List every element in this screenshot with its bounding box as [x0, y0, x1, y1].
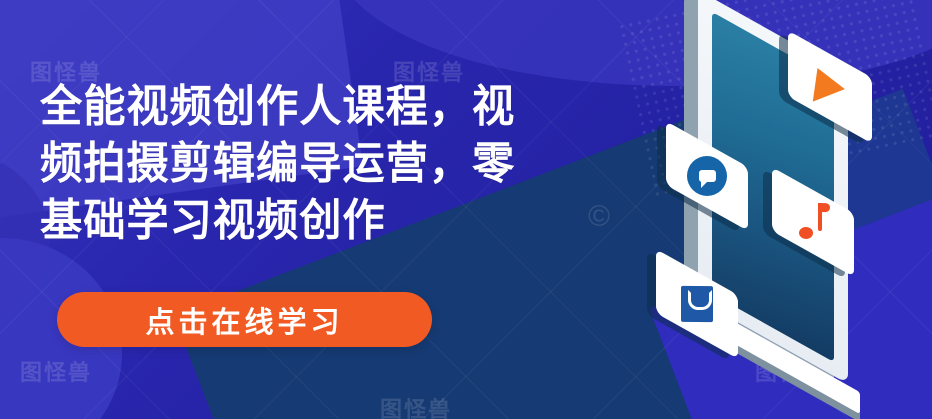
headline-line-3: 基础学习视频创作	[40, 192, 645, 249]
course-promo-banner: 图怪兽 图怪兽 图怪兽 图怪兽 图怪兽 图怪兽 © 全能视频创作人课程，视 频拍…	[0, 0, 932, 419]
banner-headline: 全能视频创作人课程，视 频拍摄剪辑编导运营，零 基础学习视频创作	[40, 78, 645, 249]
phone-illustration	[660, 22, 920, 407]
chat-bubble-icon	[687, 156, 727, 196]
watermark: 图怪兽	[380, 392, 452, 419]
cta-online-learning-button[interactable]: 点击在线学习	[57, 292, 432, 347]
music-note-head	[799, 227, 813, 239]
chat-bubble-shape	[699, 170, 716, 182]
music-note-stem	[818, 203, 822, 231]
music-note-icon	[796, 203, 830, 241]
shopping-bag-icon	[681, 286, 713, 322]
headline-line-2: 频拍摄剪辑编导运营，零	[40, 135, 645, 192]
headline-line-1: 全能视频创作人课程，视	[40, 78, 645, 135]
play-icon	[813, 68, 847, 106]
watermark: 图怪兽	[20, 355, 92, 387]
